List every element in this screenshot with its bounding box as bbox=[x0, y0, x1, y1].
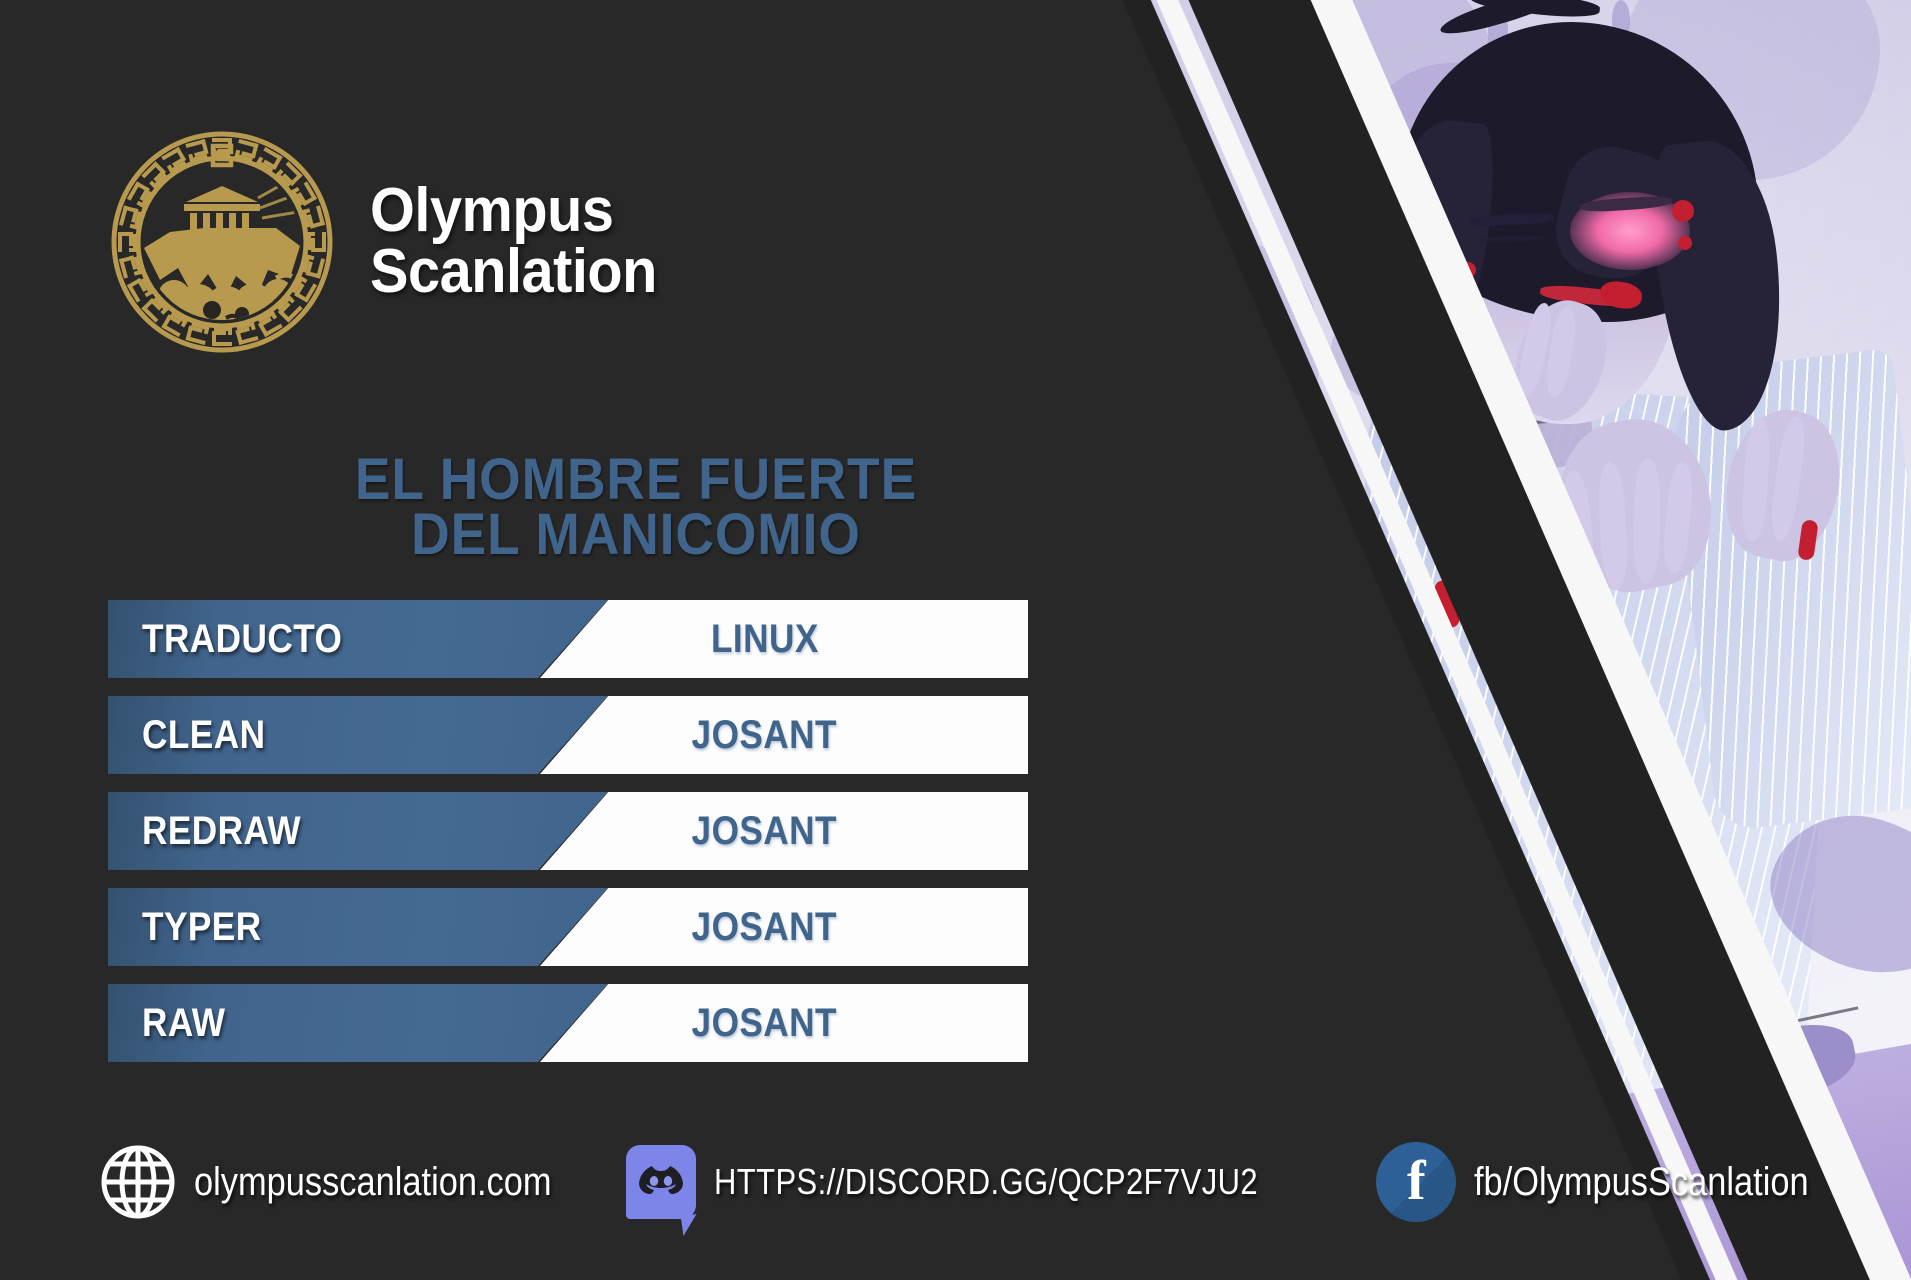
facebook-icon-glyph: f bbox=[1376, 1153, 1456, 1209]
website-label: olympusscanlation.com bbox=[194, 1162, 552, 1202]
credit-row-raw: RAW JOSANT bbox=[108, 984, 1028, 1062]
credit-name-box: JOSANT bbox=[540, 888, 1028, 966]
credit-name-label: JOSANT bbox=[692, 811, 837, 851]
discord-bubble-tail bbox=[680, 1214, 699, 1236]
blood-splatter bbox=[1672, 200, 1694, 222]
credit-role-label: RAW bbox=[142, 1003, 225, 1043]
facebook-icon: f bbox=[1376, 1142, 1456, 1222]
character-finger bbox=[1633, 458, 1661, 584]
globe-icon bbox=[96, 1140, 180, 1224]
page-title: EL HOMBRE FUERTE DEL MANICOMIO bbox=[286, 452, 985, 562]
brand-line-2: Scanlation bbox=[370, 242, 657, 303]
facebook-link[interactable]: f fb/OlympusScanlation bbox=[1376, 1142, 1863, 1222]
credit-role-label: TRADUCTO bbox=[142, 619, 342, 659]
credit-role-badge: TRADUCTO bbox=[108, 600, 608, 678]
credit-name-box: JOSANT bbox=[540, 696, 1028, 774]
credit-row-clean: CLEAN JOSANT bbox=[108, 696, 1028, 774]
footer-links: olympusscanlation.com HTTPS://DISCORD.GG… bbox=[96, 1140, 1863, 1224]
credit-name-label: LINUX bbox=[711, 619, 819, 659]
credit-role-badge: REDRAW bbox=[108, 792, 608, 870]
title-line-2: DEL MANICOMIO bbox=[286, 507, 985, 562]
title-line-1: EL HOMBRE FUERTE bbox=[286, 452, 985, 507]
discord-link[interactable]: HTTPS://DISCORD.GG/QCP2F7VJU2 bbox=[626, 1145, 1347, 1219]
left-content-pane: Olympus Scanlation EL HOMBRE FUERTE DEL … bbox=[0, 0, 1140, 1280]
discord-label: HTTPS://DISCORD.GG/QCP2F7VJU2 bbox=[714, 1164, 1258, 1200]
credit-name-label: JOSANT bbox=[692, 1003, 837, 1043]
credit-name-box: JOSANT bbox=[540, 984, 1028, 1062]
brand-line-1: Olympus bbox=[370, 181, 657, 242]
credit-name-label: JOSANT bbox=[692, 907, 837, 947]
credit-role-badge: TYPER bbox=[108, 888, 608, 966]
credit-row-traducto: TRADUCTO LINUX bbox=[108, 600, 1028, 678]
brand-block: Olympus Scanlation bbox=[108, 128, 679, 356]
credit-role-badge: CLEAN bbox=[108, 696, 608, 774]
credit-row-redraw: REDRAW JOSANT bbox=[108, 792, 1028, 870]
brand-wordmark: Olympus Scanlation bbox=[370, 181, 657, 303]
credit-role-label: TYPER bbox=[142, 907, 262, 947]
credit-role-badge: RAW bbox=[108, 984, 608, 1062]
blood-splatter bbox=[1678, 236, 1692, 250]
facebook-label: fb/OlympusScanlation bbox=[1474, 1162, 1809, 1202]
credit-name-label: JOSANT bbox=[692, 715, 837, 755]
credits-page: Olympus Scanlation EL HOMBRE FUERTE DEL … bbox=[0, 0, 1911, 1280]
olympus-temple-emblem-icon bbox=[108, 128, 336, 356]
credit-name-box: JOSANT bbox=[540, 792, 1028, 870]
website-link[interactable]: olympusscanlation.com bbox=[96, 1140, 610, 1224]
credits-list: TRADUCTO LINUX CLEAN JOSANT REDRAW bbox=[108, 600, 1028, 1080]
credit-row-typer: TYPER JOSANT bbox=[108, 888, 1028, 966]
credit-name-box: LINUX bbox=[540, 600, 1028, 678]
credit-role-label: REDRAW bbox=[142, 811, 301, 851]
credit-role-label: CLEAN bbox=[142, 715, 265, 755]
discord-icon bbox=[626, 1145, 696, 1219]
